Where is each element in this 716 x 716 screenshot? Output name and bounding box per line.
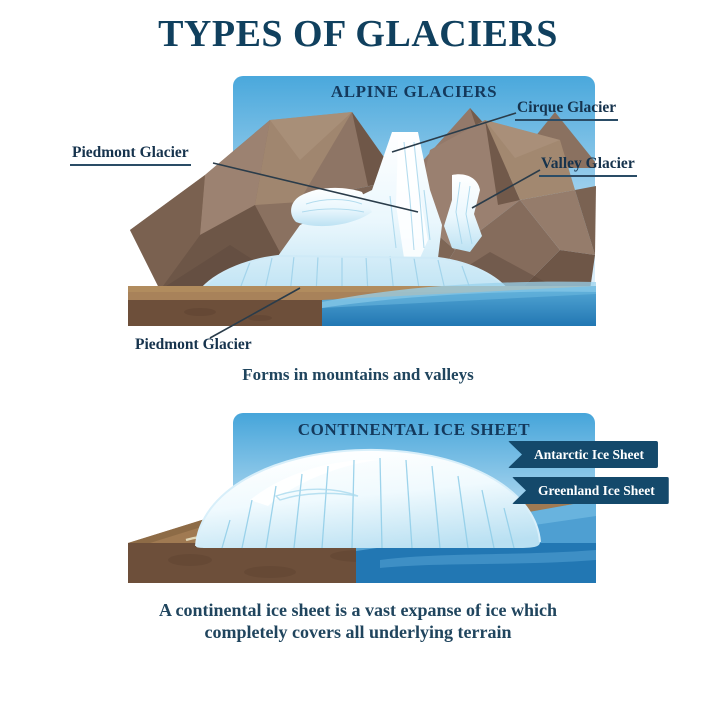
callout-piedmont-glacier-lower: Piedmont Glacier	[133, 336, 254, 356]
callout-underline	[515, 119, 618, 121]
ice-sheet-water	[356, 500, 596, 583]
terrain-slab	[128, 500, 596, 583]
callout-cirque-glacier: Cirque Glacier	[515, 99, 618, 121]
badge-greenland-ice-sheet[interactable]: Greenland Ice Sheet	[512, 477, 669, 504]
mountain-massif	[130, 112, 596, 290]
badge-antarctic-ice-sheet[interactable]: Antarctic Ice Sheet	[508, 441, 658, 468]
callout-underline	[539, 175, 637, 177]
valley-glacier	[444, 174, 482, 252]
ice-dome	[196, 450, 540, 548]
cirque-glacier	[291, 188, 372, 226]
badge-label: Antarctic Ice Sheet	[534, 447, 644, 463]
callout-label: Piedmont Glacier	[133, 336, 254, 356]
page-title: TYPES OF GLACIERS	[0, 12, 716, 56]
ice-sheet-panel-title: CONTINENTAL ICE SHEET	[233, 420, 595, 440]
ground-slab	[128, 286, 596, 326]
callout-underline	[70, 164, 191, 166]
badge-label: Greenland Ice Sheet	[538, 483, 655, 499]
piedmont-glacier-flow	[196, 132, 512, 296]
infographic-canvas: TYPES OF GLACIERS	[0, 0, 716, 716]
alpine-caption: Forms in mountains and valleys	[0, 365, 716, 385]
ice-sheet-caption-line2: completely covers all underlying terrain	[0, 622, 716, 643]
callout-valley-glacier: Valley Glacier	[539, 155, 637, 177]
callout-label: Piedmont Glacier	[70, 144, 191, 164]
alpine-leader-lines	[210, 113, 540, 338]
callout-label: Cirque Glacier	[515, 99, 618, 119]
crevasse-lines	[222, 458, 514, 548]
callout-label: Valley Glacier	[539, 155, 637, 175]
ice-sheet-caption-line1: A continental ice sheet is a vast expans…	[0, 600, 716, 621]
alpine-water	[322, 282, 596, 326]
callout-piedmont-glacier-upper: Piedmont Glacier	[70, 144, 191, 166]
